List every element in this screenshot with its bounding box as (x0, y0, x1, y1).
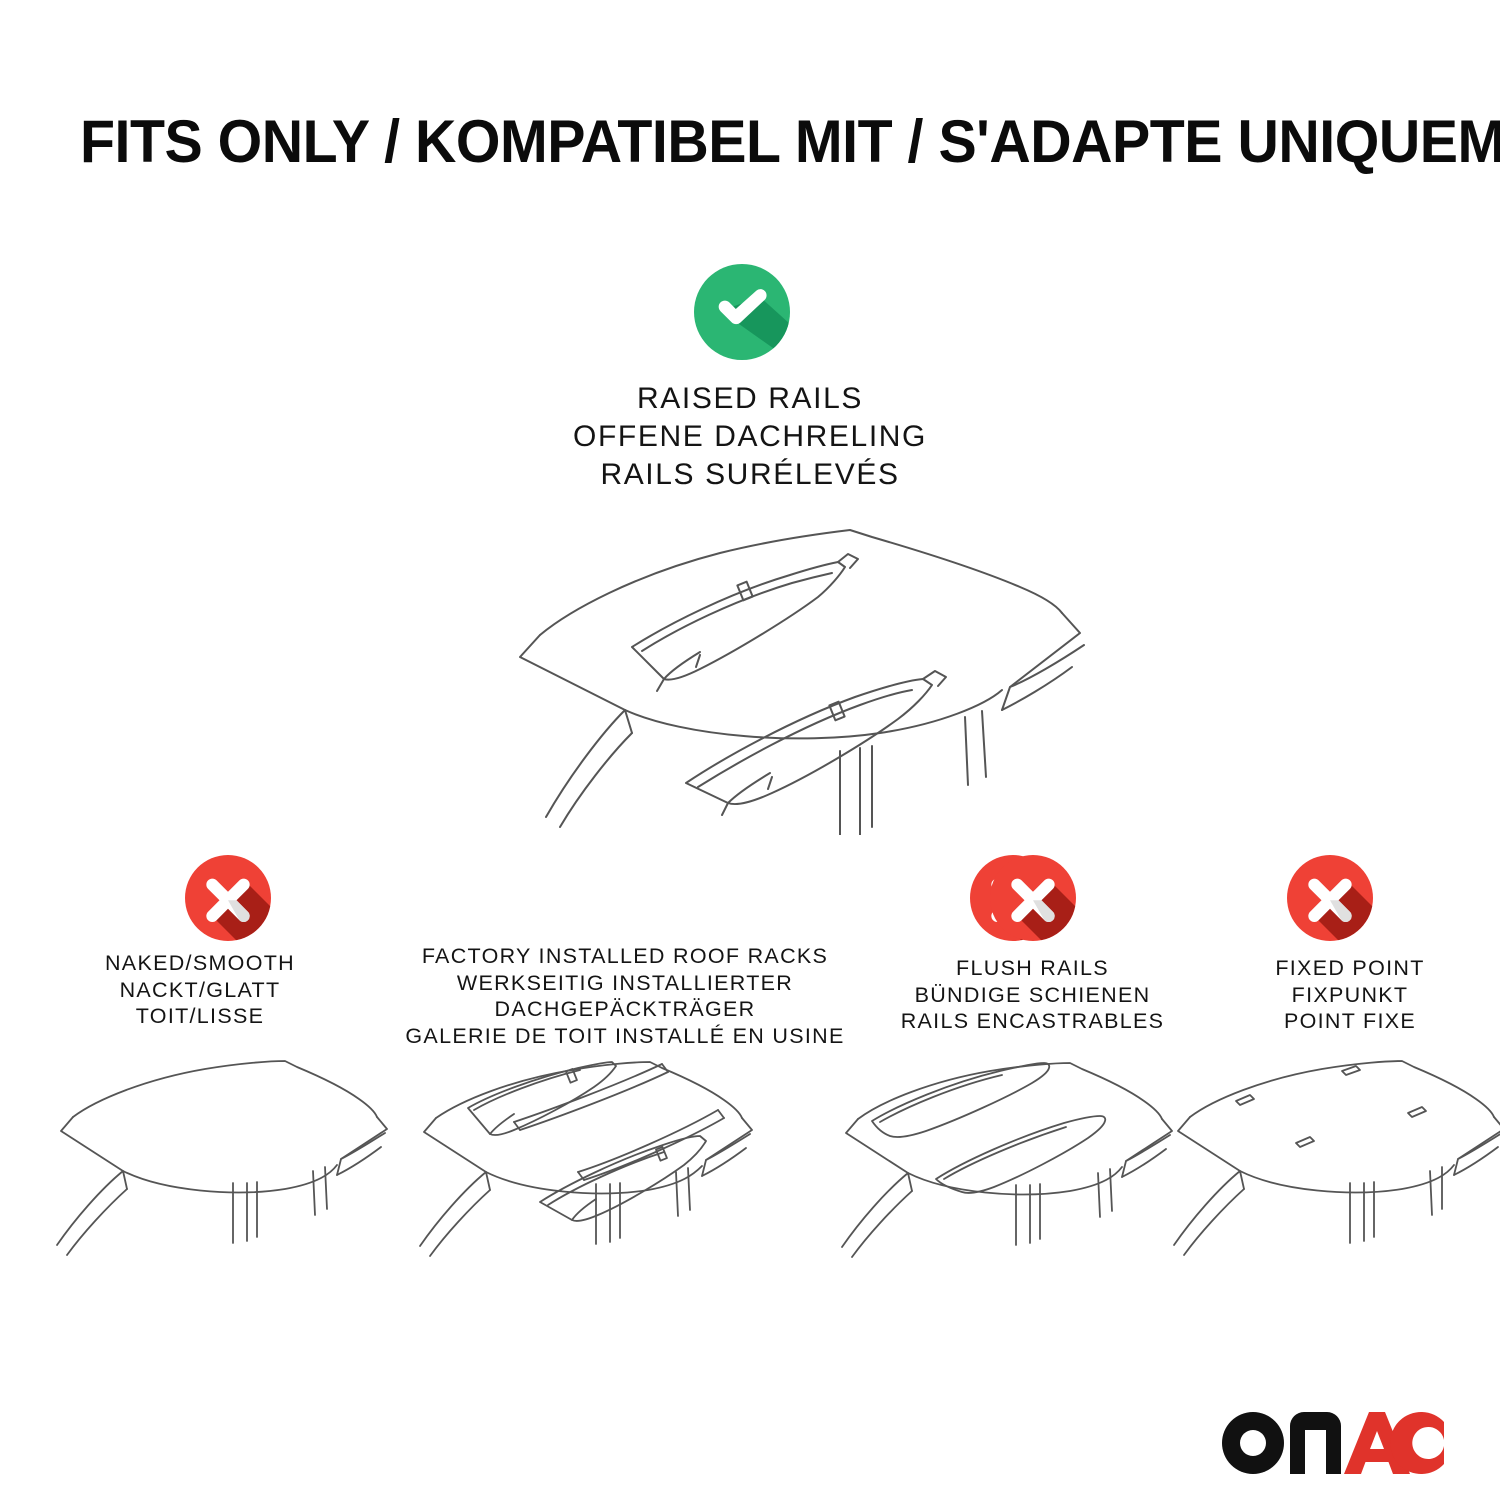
compatible-label: RAISED RAILS OFFENE DACHRELING RAILS SUR… (450, 380, 1050, 494)
label-line-en: FLUSH RAILS (860, 955, 1205, 982)
check-circle-icon (694, 264, 790, 360)
compatible-label-line-fr: RAILS SURÉLEVÉS (450, 456, 1050, 494)
car-roof-naked-smooth-illustration (35, 1055, 390, 1265)
car-roof-flush-rails-illustration (810, 1055, 1200, 1265)
label-line-fr: GALERIE DE TOIT INSTALLÉ EN USINE (390, 1023, 860, 1050)
label-line-de: BÜNDIGE SCHIENEN (860, 982, 1205, 1009)
label-line-de-1: WERKSEITIG INSTALLIERTER (390, 970, 860, 997)
logo-letter-m (1290, 1412, 1341, 1474)
label-line-de: FIXPUNKT (1200, 982, 1500, 1009)
incompatible-label-naked-smooth: NAKED/SMOOTH NACKT/GLATT TOIT/LISSE (10, 950, 390, 1030)
car-roof-fixed-point-illustration (1150, 1055, 1500, 1265)
label-line-de: NACKT/GLATT (10, 977, 390, 1004)
car-roof-raised-rails-illustration (420, 505, 1100, 835)
page-title: FITS ONLY / KOMPATIBEL MIT / S'ADAPTE UN… (80, 110, 1369, 174)
omac-logo (1222, 1412, 1444, 1474)
logo-letter-o (1222, 1412, 1284, 1474)
label-line-en: FIXED POINT (1200, 955, 1500, 982)
car-roof-factory-roof-racks-illustration (400, 1060, 770, 1270)
label-line-de-2: DACHGEPÄCKTRÄGER (390, 996, 860, 1023)
label-line-fr: POINT FIXE (1200, 1008, 1500, 1035)
compatible-label-line-en: RAISED RAILS (450, 380, 1050, 418)
label-line-en: FACTORY INSTALLED ROOF RACKS (390, 943, 860, 970)
incompatible-label-flush-rails: FLUSH RAILS BÜNDIGE SCHIENEN RAILS ENCAS… (860, 955, 1205, 1035)
label-line-en: NAKED/SMOOTH (10, 950, 390, 977)
x-circle-icon (1287, 855, 1373, 941)
incompatible-label-factory-roof-racks: FACTORY INSTALLED ROOF RACKS WERKSEITIG … (390, 943, 860, 1049)
label-line-fr: RAILS ENCASTRABLES (860, 1008, 1205, 1035)
compatible-label-line-de: OFFENE DACHRELING (450, 418, 1050, 456)
x-circle-icon (990, 855, 1076, 941)
x-circle-icon (185, 855, 271, 941)
label-line-fr: TOIT/LISSE (10, 1003, 390, 1030)
incompatible-label-fixed-point: FIXED POINT FIXPUNKT POINT FIXE (1200, 955, 1500, 1035)
